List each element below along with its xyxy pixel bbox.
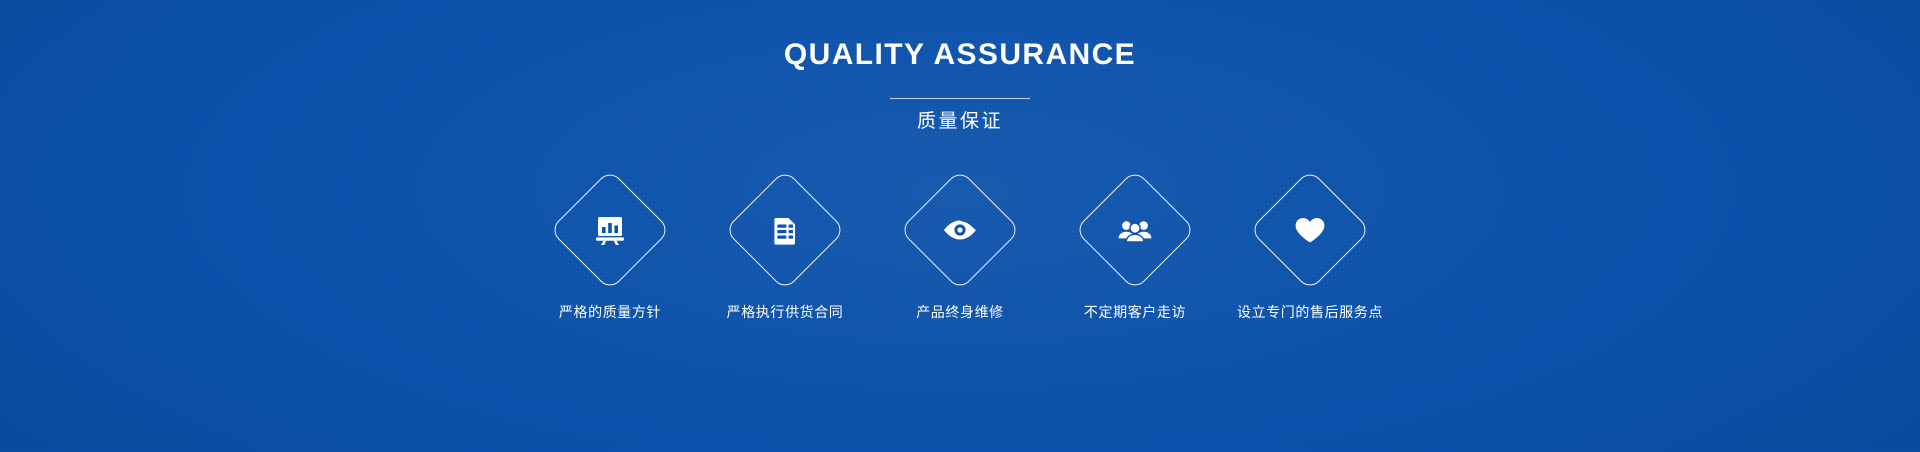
people-group-icon — [1113, 208, 1157, 252]
title-divider — [890, 98, 1030, 99]
feature-icon-frame — [899, 169, 1021, 291]
page-subtitle: 质量保证 — [917, 112, 1003, 131]
feature-label: 设立专门的售后服务点 — [1237, 305, 1383, 319]
page-title: QUALITY ASSURANCE — [784, 40, 1136, 70]
feature-icon-frame — [549, 169, 671, 291]
feature-list: 严格的质量方针 — [523, 169, 1398, 319]
banner-heading: QUALITY ASSURANCE 质量保证 — [784, 40, 1136, 131]
feature-item-quality-policy[interactable]: 严格的质量方针 — [523, 169, 698, 319]
feature-label: 不定期客户走访 — [1084, 305, 1186, 319]
feature-item-lifetime-repair[interactable]: 产品终身维修 — [873, 169, 1048, 319]
feature-label: 严格执行供货合同 — [727, 305, 844, 319]
banner-content: QUALITY ASSURANCE 质量保证 — [0, 0, 1920, 452]
quality-assurance-banner: QUALITY ASSURANCE 质量保证 — [0, 0, 1920, 452]
feature-label: 严格的质量方针 — [559, 305, 661, 319]
feature-icon-frame — [724, 169, 846, 291]
feature-item-supply-contract[interactable]: 严格执行供货合同 — [698, 169, 873, 319]
bar-chart-presentation-icon — [588, 208, 632, 252]
feature-label: 产品终身维修 — [916, 305, 1004, 319]
eye-icon — [938, 208, 982, 252]
heart-icon — [1288, 208, 1332, 252]
document-list-icon — [763, 208, 807, 252]
feature-item-customer-visits[interactable]: 不定期客户走访 — [1048, 169, 1223, 319]
feature-icon-frame — [1074, 169, 1196, 291]
feature-icon-frame — [1249, 169, 1371, 291]
feature-item-service-center[interactable]: 设立专门的售后服务点 — [1223, 169, 1398, 319]
